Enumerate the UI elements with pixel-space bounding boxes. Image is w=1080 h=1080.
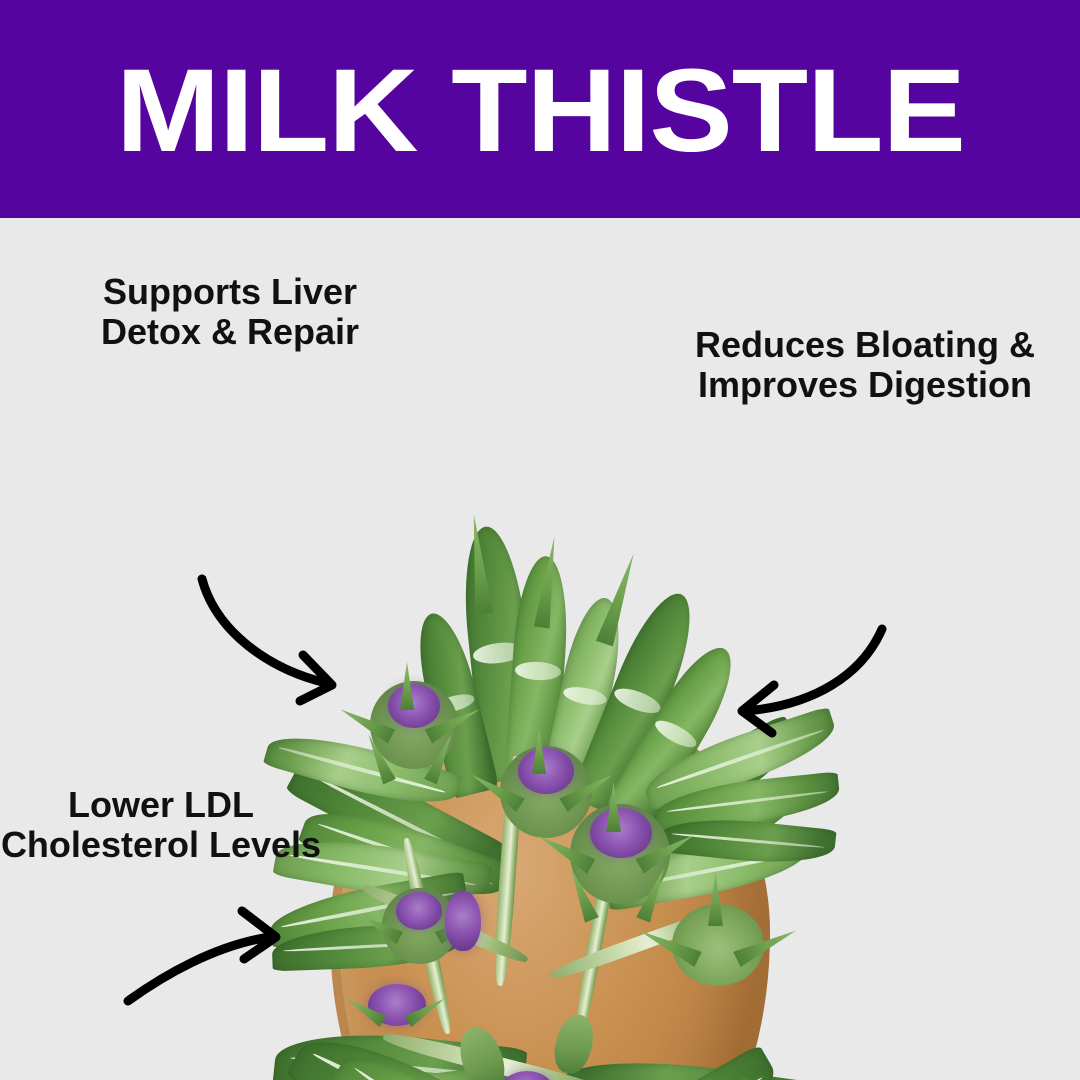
callout-reduces-bloating: Reduces Bloating & Improves Digestion — [685, 325, 1045, 406]
thistle-flower — [590, 808, 652, 858]
thistle-flower — [396, 892, 442, 930]
product-photo — [0, 436, 1080, 1080]
thistle-flower — [445, 891, 481, 951]
header-banner: MILK THISTLE — [0, 0, 1080, 218]
poster: MILK THISTLE — [0, 0, 1080, 1080]
callout-lower-ldl: Lower LDL Cholesterol Levels — [0, 785, 326, 866]
callout-supports-liver: Supports Liver Detox & Repair — [70, 272, 390, 353]
thistle-flower — [518, 748, 574, 794]
thistle-flower — [388, 684, 440, 728]
page-title: MILK THISTLE — [116, 52, 965, 170]
